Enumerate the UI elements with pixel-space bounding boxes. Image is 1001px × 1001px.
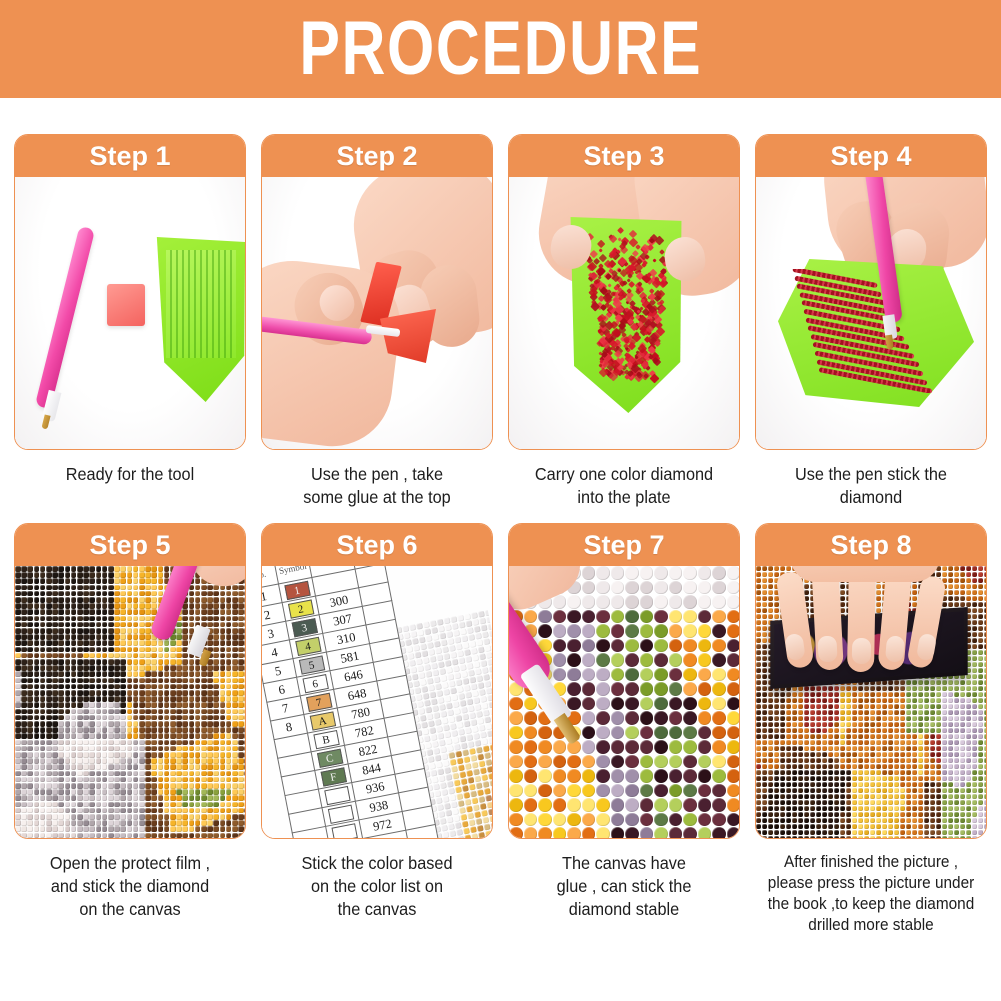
- diamond-bead: [52, 833, 58, 838]
- diamond-bead: [114, 647, 120, 653]
- diamond-bead: [182, 678, 188, 684]
- canvas-bead: [486, 837, 492, 838]
- diamond-bead: [972, 626, 977, 631]
- step-card-5[interactable]: Step 5: [14, 523, 246, 839]
- diamond-bead: [176, 678, 182, 684]
- canvas-bead: [487, 659, 492, 666]
- diamond-bead: [244, 690, 245, 696]
- diamond-bead: [244, 740, 245, 746]
- diamond-bead: [984, 692, 986, 697]
- diamond-bead: [96, 702, 102, 708]
- diamond-bead: [611, 595, 625, 609]
- diamond-bead: [972, 566, 977, 571]
- diamond-bead: [158, 802, 164, 808]
- diamond-bead: [912, 788, 917, 793]
- diamond-bead: [207, 733, 213, 739]
- diamond-bead: [127, 671, 133, 677]
- diamond-bead: [108, 585, 114, 591]
- step-card-7[interactable]: Step 7: [508, 523, 740, 839]
- step-cell-7: Step 7 The canvas have glue , can stick …: [508, 523, 740, 936]
- diamond-bead: [654, 566, 668, 580]
- diamond-bead: [810, 776, 815, 781]
- diamond-bead: [201, 814, 207, 820]
- diamond-bead: [924, 794, 929, 799]
- diamond-bead: [34, 702, 40, 708]
- diamond-bead: [220, 777, 226, 783]
- diamond-bead: [858, 716, 863, 721]
- diamond-bead: [804, 764, 809, 769]
- diamond-bead: [822, 800, 827, 805]
- diamond-bead: [96, 585, 102, 591]
- diamond-bead: [164, 727, 170, 733]
- diamond-bead: [34, 566, 40, 572]
- diamond-bead: [978, 662, 983, 667]
- diamond-bead: [828, 710, 833, 715]
- diamond-bead: [71, 802, 77, 808]
- diamond-bead: [226, 616, 232, 622]
- diamond-bead: [792, 776, 797, 781]
- diamond-bead: [984, 572, 986, 577]
- diamond-bead: [151, 640, 157, 646]
- diamond-bead: [774, 614, 779, 619]
- diamond-bead: [762, 812, 767, 817]
- diamond-bead: [846, 704, 851, 709]
- diamond-bead: [798, 758, 803, 763]
- diamond-bead: [170, 733, 176, 739]
- diamond-bead: [840, 590, 845, 595]
- diamond-bead: [195, 591, 201, 597]
- diamond-bead: [984, 578, 986, 583]
- diamond-bead: [238, 603, 244, 609]
- diamond-bead: [683, 827, 697, 838]
- diamond-bead: [226, 665, 232, 671]
- diamond-bead: [966, 794, 971, 799]
- diamond-bead: [727, 653, 740, 667]
- diamond-bead: [912, 782, 917, 787]
- diamond-bead: [27, 802, 33, 808]
- diamond-bead: [870, 794, 875, 799]
- diamond-bead: [207, 702, 213, 708]
- diamond-bead: [102, 585, 108, 591]
- diamond-bead: [40, 659, 46, 665]
- diamond-bead: [83, 622, 89, 628]
- diamond-bead: [762, 800, 767, 805]
- diamond-bead: [34, 696, 40, 702]
- diamond-bead: [71, 740, 77, 746]
- diamond-bead: [894, 716, 899, 721]
- diamond-bead: [640, 755, 654, 769]
- diamond-bead: [966, 770, 971, 775]
- diamond-bead: [876, 716, 881, 721]
- diamond-bead: [34, 727, 40, 733]
- diamond-bead: [798, 812, 803, 817]
- diamond-bead: [232, 591, 238, 597]
- diamond-bead: [40, 826, 46, 832]
- diamond-bead: [226, 678, 232, 684]
- diamond-bead: [40, 820, 46, 826]
- diamond-bead: [244, 684, 245, 690]
- diamond-bead: [894, 770, 899, 775]
- diamond-bead: [83, 603, 89, 609]
- diamond-bead: [170, 684, 176, 690]
- diamond-bead: [21, 802, 27, 808]
- diamond-bead: [52, 789, 58, 795]
- diamond-bead: [114, 690, 120, 696]
- diamond-bead: [984, 740, 986, 745]
- diamond-bead: [828, 788, 833, 793]
- diamond-bead: [27, 727, 33, 733]
- diamond-bead: [978, 716, 983, 721]
- diamond-bead: [114, 671, 120, 677]
- diamond-bead: [930, 746, 935, 751]
- diamond-bead: [158, 727, 164, 733]
- diamond-bead: [816, 692, 821, 697]
- diamond-bead: [102, 696, 108, 702]
- diamond-bead: [984, 782, 986, 787]
- diamond-bead: [96, 603, 102, 609]
- diamond-bead: [46, 752, 52, 758]
- diamond-bead: [182, 628, 188, 634]
- diamond-bead: [882, 710, 887, 715]
- diamond-bead: [238, 752, 244, 758]
- diamond-bead: [127, 653, 133, 659]
- step-card-2[interactable]: Step 2: [261, 134, 493, 450]
- diamond-bead: [83, 758, 89, 764]
- diamond-bead: [127, 597, 133, 603]
- diamond-bead: [114, 808, 120, 814]
- diamond-bead: [52, 585, 58, 591]
- diamond-bead: [822, 710, 827, 715]
- diamond-bead: [978, 752, 983, 757]
- diamond-bead: [40, 715, 46, 721]
- diamond-bead: [846, 782, 851, 787]
- canvas-bead: [491, 679, 492, 686]
- diamond-bead: [21, 671, 27, 677]
- diamond-bead: [774, 728, 779, 733]
- diamond-bead: [238, 702, 244, 708]
- diamond-bead: [96, 808, 102, 814]
- diamond-bead: [96, 740, 102, 746]
- diamond-bead: [888, 728, 893, 733]
- diamond-bead: [669, 595, 683, 609]
- diamond-bead: [201, 740, 207, 746]
- diamond-bead: [145, 808, 151, 814]
- diamond-bead: [768, 746, 773, 751]
- diamond-bead: [52, 591, 58, 597]
- diamond-bead: [756, 788, 761, 793]
- diamond-bead: [34, 795, 40, 801]
- diamond-bead: [213, 684, 219, 690]
- diamond-bead: [34, 690, 40, 696]
- diamond-bead: [89, 789, 95, 795]
- step-header-label-4: Step 4: [830, 143, 911, 170]
- diamond-bead: [727, 740, 740, 754]
- diamond-bead: [596, 639, 610, 653]
- diamond-bead: [96, 597, 102, 603]
- diamond-bead: [176, 727, 182, 733]
- diamond-bead: [792, 716, 797, 721]
- tray-groove: [230, 250, 232, 358]
- diamond-bead: [780, 776, 785, 781]
- diamond-bead: [984, 620, 986, 625]
- diamond-bead: [876, 752, 881, 757]
- diamond-bead: [65, 578, 71, 584]
- diamond-bead: [792, 728, 797, 733]
- diamond-bead: [27, 671, 33, 677]
- diamond-bead: [15, 795, 21, 801]
- diamond-bead: [83, 634, 89, 640]
- diamond-bead: [77, 758, 83, 764]
- step-card-3[interactable]: Step 3: [508, 134, 740, 450]
- diamond-bead: [220, 671, 226, 677]
- diamond-bead: [798, 734, 803, 739]
- diamond-bead: [120, 591, 126, 597]
- diamond-bead: [83, 572, 89, 578]
- diamond-bead: [846, 722, 851, 727]
- diamond-bead: [102, 566, 108, 572]
- diamond-bead: [127, 808, 133, 814]
- diamond-bead: [780, 812, 785, 817]
- diamond-bead: [804, 722, 809, 727]
- diamond-bead: [71, 684, 77, 690]
- step-card-4[interactable]: Step 4: [755, 134, 987, 450]
- diamond-bead: [195, 665, 201, 671]
- diamond-bead: [244, 727, 245, 733]
- step-card-1[interactable]: Step 1: [14, 134, 246, 450]
- diamond-bead: [828, 746, 833, 751]
- diamond-bead: [876, 692, 881, 697]
- diamond-bead: [21, 616, 27, 622]
- diamond-bead: [936, 686, 941, 691]
- diamond-bead: [876, 800, 881, 805]
- diamond-bead: [948, 584, 953, 589]
- diamond-bead: [960, 710, 965, 715]
- diamond-bead: [762, 584, 767, 589]
- diamond-bead: [611, 566, 625, 580]
- diamond-bead: [52, 771, 58, 777]
- diamond-bead: [27, 758, 33, 764]
- diamond-bead: [207, 802, 213, 808]
- diamond-bead: [972, 590, 977, 595]
- diamond-bead: [46, 702, 52, 708]
- diamond-bead: [966, 722, 971, 727]
- diamond-bead: [164, 572, 170, 578]
- diamond-bead: [89, 640, 95, 646]
- diamond-bead: [852, 734, 857, 739]
- diamond-bead: [34, 814, 40, 820]
- diamond-bead: [226, 653, 232, 659]
- diamond-bead: [77, 727, 83, 733]
- diamond-bead: [21, 585, 27, 591]
- diamond-bead: [870, 758, 875, 763]
- diamond-bead: [89, 597, 95, 603]
- diamond-bead: [96, 665, 102, 671]
- diamond-bead: [158, 640, 164, 646]
- diamond-bead: [238, 665, 244, 671]
- diamond-bead: [40, 764, 46, 770]
- diamond-bead: [822, 764, 827, 769]
- diamond-bead: [756, 758, 761, 763]
- diamond-bead: [828, 812, 833, 817]
- diamond-bead: [698, 624, 712, 638]
- diamond-bead: [966, 716, 971, 721]
- diamond-bead: [960, 584, 965, 589]
- diamond-bead: [27, 702, 33, 708]
- diamond-bead: [822, 722, 827, 727]
- diamond-bead: [582, 697, 596, 711]
- step-cell-2: Step 2 Use the pen , take so: [261, 134, 493, 509]
- diamond-bead: [102, 628, 108, 634]
- diamond-bead: [15, 715, 21, 721]
- diamond-bead: [828, 758, 833, 763]
- diamond-bead: [34, 820, 40, 826]
- diamond-bead: [89, 622, 95, 628]
- diamond-bead: [133, 690, 139, 696]
- diamond-bead: [46, 578, 52, 584]
- diamond-bead: [948, 728, 953, 733]
- diamond-bead: [226, 597, 232, 603]
- diamond-bead: [46, 690, 52, 696]
- diamond-bead: [220, 591, 226, 597]
- diamond-bead: [876, 584, 881, 589]
- diamond-bead: [139, 597, 145, 603]
- diamond-bead: [65, 814, 71, 820]
- diamond-bead: [232, 826, 238, 832]
- diamond-bead: [238, 585, 244, 591]
- diamond-bead: [89, 653, 95, 659]
- diamond-bead: [71, 665, 77, 671]
- diamond-bead: [139, 640, 145, 646]
- diamond-bead: [972, 758, 977, 763]
- diamond-bead: [828, 722, 833, 727]
- diamond-bead: [40, 634, 46, 640]
- diamond-bead: [232, 764, 238, 770]
- diamond-bead: [816, 728, 821, 733]
- diamond-bead: [127, 622, 133, 628]
- diamond-bead: [220, 820, 226, 826]
- diamond-bead: [900, 734, 905, 739]
- diamond-bead: [213, 653, 219, 659]
- diamond-bead: [948, 578, 953, 583]
- diamond-bead: [840, 692, 845, 697]
- diamond-bead: [108, 665, 114, 671]
- diamond-bead: [71, 671, 77, 677]
- diamond-bead: [65, 690, 71, 696]
- diamond-bead: [158, 696, 164, 702]
- diamond-bead: [792, 812, 797, 817]
- diamond-bead: [195, 814, 201, 820]
- diamond-bead: [816, 710, 821, 715]
- step-card-6[interactable]: Step 6 No.SymbolDMCX11223003330744310555…: [261, 523, 493, 839]
- diamond-bead: [924, 764, 929, 769]
- step-card-8[interactable]: Step 8: [755, 523, 987, 839]
- diamond-bead: [582, 595, 596, 609]
- diamond-bead: [712, 668, 726, 682]
- diamond-bead: [158, 733, 164, 739]
- diamond-bead: [768, 770, 773, 775]
- diamond-bead: [669, 784, 683, 798]
- diamond-bead: [139, 715, 145, 721]
- diamond-bead: [756, 578, 761, 583]
- diamond-bead: [882, 692, 887, 697]
- diamond-bead: [804, 800, 809, 805]
- diamond-bead: [189, 733, 195, 739]
- diamond-bead: [918, 728, 923, 733]
- diamond-bead: [683, 653, 697, 667]
- diamond-bead: [978, 800, 983, 805]
- diamond-bead: [232, 585, 238, 591]
- diamond-bead: [189, 709, 195, 715]
- canvas-bead: [489, 780, 492, 787]
- diamond-bead: [133, 783, 139, 789]
- diamond-bead: [810, 704, 815, 709]
- diamond-bead: [220, 740, 226, 746]
- diamond-bead: [244, 814, 245, 820]
- diamond-bead: [89, 758, 95, 764]
- diamond-bead: [786, 800, 791, 805]
- diamond-bead: [768, 734, 773, 739]
- diamond-bead: [83, 659, 89, 665]
- diamond-bead: [238, 622, 244, 628]
- diamond-bead: [912, 698, 917, 703]
- diamond-bead: [984, 680, 986, 685]
- diamond-bead: [768, 566, 773, 571]
- diamond-bead: [960, 734, 965, 739]
- diamond-bead: [611, 784, 625, 798]
- diamond-bead: [762, 578, 767, 583]
- diamond-bead: [15, 820, 21, 826]
- diamond-bead: [89, 764, 95, 770]
- diamond-bead: [984, 722, 986, 727]
- diamond-bead: [46, 665, 52, 671]
- diamond-bead: [83, 715, 89, 721]
- diamond-bead: [83, 764, 89, 770]
- diamond-bead: [145, 566, 151, 572]
- diamond-bead: [145, 603, 151, 609]
- diamond-bead: [244, 771, 245, 777]
- diamond-bead: [65, 616, 71, 622]
- diamond-bead: [900, 722, 905, 727]
- step-cell-8: Step 8 After finished the picture , plea…: [755, 523, 987, 936]
- diamond-bead: [71, 696, 77, 702]
- diamond-bead: [756, 752, 761, 757]
- diamond-bead: [83, 591, 89, 597]
- diamond-bead: [756, 812, 761, 817]
- diamond-bead: [596, 610, 610, 624]
- diamond-bead: [876, 740, 881, 745]
- diamond-bead: [768, 788, 773, 793]
- diamond-bead: [21, 764, 27, 770]
- diamond-bead: [114, 653, 120, 659]
- diamond-bead: [792, 764, 797, 769]
- diamond-bead: [21, 597, 27, 603]
- diamond-bead: [226, 622, 232, 628]
- diamond-bead: [768, 692, 773, 697]
- diamond-bead: [226, 820, 232, 826]
- diamond-bead: [127, 733, 133, 739]
- diamond-bead: [133, 826, 139, 832]
- diamond-bead: [83, 820, 89, 826]
- diamond-bead: [151, 789, 157, 795]
- diamond-bead: [948, 596, 953, 601]
- diamond-bead: [46, 678, 52, 684]
- diamond-bead: [876, 734, 881, 739]
- diamond-bead: [158, 752, 164, 758]
- diamond-bead: [858, 764, 863, 769]
- diamond-bead: [960, 698, 965, 703]
- diamond-bead: [930, 794, 935, 799]
- diamond-bead: [164, 653, 170, 659]
